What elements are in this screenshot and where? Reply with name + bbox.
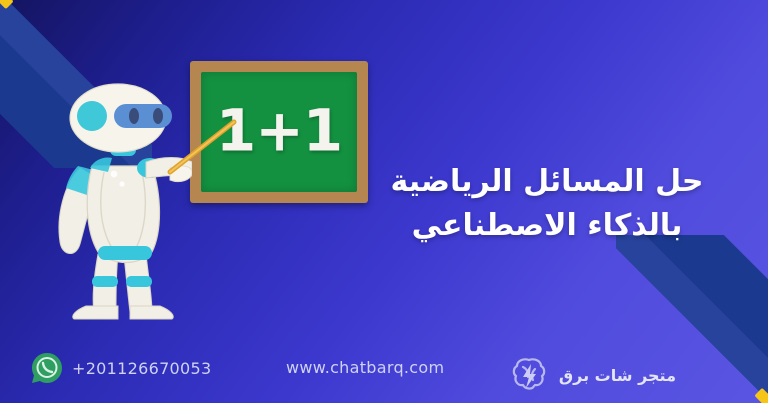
brand-name: متجر شات برق <box>559 366 676 385</box>
footer-bar: +201126670053 www.chatbarq.com متجر شات … <box>0 333 768 403</box>
contact-phone[interactable]: +201126670053 <box>30 351 211 385</box>
brain-lightning-logo-icon <box>509 355 549 395</box>
robot-illustration <box>42 76 192 321</box>
headline-line-1: حل المسائل الرياضية <box>391 164 704 199</box>
promo-banner: 1+1 <box>0 0 768 403</box>
pointer-stick <box>166 118 238 178</box>
headline-line-2: بالذكاء الاصطناعي <box>352 204 742 248</box>
whatsapp-icon <box>30 351 64 385</box>
phone-number: +201126670053 <box>72 359 211 378</box>
website-url[interactable]: www.chatbarq.com <box>286 358 444 377</box>
headline: حل المسائل الرياضية بالذكاء الاصطناعي <box>352 160 742 247</box>
brand-lockup: متجر شات برق <box>509 355 676 395</box>
